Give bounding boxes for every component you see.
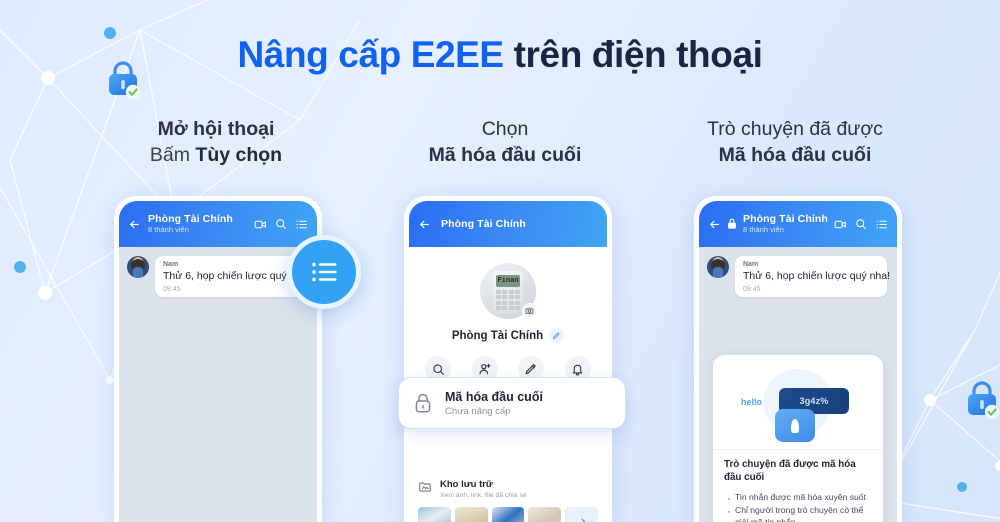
- e2ee-option-subtitle: Chưa nâng cấp: [445, 406, 543, 417]
- phone-3-message-row: Nam Thử 6, họp chiến lược quý nha! 09:45: [699, 247, 897, 297]
- storage-header: Kho lưu trữ Xem ảnh, link, file đã chia …: [418, 479, 598, 499]
- list-item: Chỉ người trong trò chuyện có thể giải m…: [727, 504, 872, 522]
- back-arrow-icon[interactable]: [418, 218, 431, 231]
- back-arrow-icon[interactable]: [128, 218, 141, 231]
- message-sender: Nam: [743, 261, 879, 268]
- list-item: Tin nhắn được mã hóa xuyên suốt: [727, 491, 872, 503]
- illustration-plaintext: hello: [741, 397, 762, 407]
- lock-icon: [726, 217, 738, 231]
- thumbnail[interactable]: [455, 507, 488, 522]
- illustration-ciphertext: 3g4z%: [799, 396, 828, 406]
- message-bubble[interactable]: Nam Thử 6, họp chiến lược quý nha! 09:45: [735, 256, 887, 297]
- step-heading-1: Mở hội thoại Bấm Tùy chọn: [66, 116, 366, 169]
- options-menu-highlight-button[interactable]: [287, 235, 361, 309]
- phone-3-screen: Phòng Tài Chính 8 thành viên Nam Thử 6, …: [699, 201, 897, 522]
- avatar: [707, 256, 729, 278]
- message-text: Thử 6, họp chiến lược quý nha!: [163, 270, 299, 283]
- thumbnail[interactable]: [492, 507, 525, 522]
- search-icon[interactable]: [275, 218, 287, 230]
- camera-icon: [525, 306, 534, 315]
- group-name-row: Phòng Tài Chính: [409, 328, 607, 343]
- phone-1-header-icons: [254, 218, 308, 231]
- step-heading-3: Trò chuyện đã được Mã hóa đầu cuối: [645, 116, 945, 169]
- storage-thumbnails: [418, 507, 598, 522]
- thumbnail[interactable]: [418, 507, 451, 522]
- phone-1-chat-header: Phòng Tài Chính 8 thành viên: [119, 201, 317, 247]
- phone-3-header-text: Phòng Tài Chính 8 thành viên: [743, 213, 829, 235]
- back-arrow-icon[interactable]: [708, 218, 721, 231]
- calculator-image: Finan: [493, 271, 523, 313]
- e2ee-option-text: Mã hóa đầu cuối Chưa nâng cấp: [445, 390, 543, 417]
- phone-3-chat-body: Nam Thử 6, họp chiến lược quý nha! 09:45…: [699, 247, 897, 522]
- group-name: Phòng Tài Chính: [452, 330, 543, 342]
- step-heading-2: Chọn Mã hóa đầu cuối: [355, 116, 655, 169]
- group-avatar-wrap: Finan: [480, 263, 536, 319]
- arrow-right-icon: [575, 516, 588, 522]
- menu-list-icon[interactable]: [875, 218, 888, 231]
- phone-2-chat-title: Phòng Tài Chính: [441, 218, 526, 230]
- edit-name-button[interactable]: [549, 328, 564, 343]
- page-title-highlight: Nâng cấp E2EE: [237, 34, 503, 75]
- e2ee-info-body: Trò chuyện đã được mã hóa đầu cuối Tin n…: [713, 449, 883, 522]
- phone-2-chat-header: Phòng Tài Chính: [409, 201, 607, 247]
- step-1-line-2-normal: Bấm: [150, 144, 196, 166]
- phone-3-chat-title: Phòng Tài Chính: [743, 213, 829, 225]
- phone-mockup-2: Phòng Tài Chính Finan Phòng Tài Chính: [404, 196, 612, 522]
- illustration-lock-icon: [775, 409, 815, 442]
- phone-3-header-icons: [834, 218, 888, 231]
- page-title-rest: trên điện thoại: [504, 34, 763, 75]
- message-time: 09:45: [163, 286, 299, 293]
- page-title: Nâng cấp E2EE trên điện thoại: [0, 34, 1000, 76]
- step-1-line-2-bold: Tùy chọn: [195, 144, 282, 166]
- message-time: 09:45: [743, 286, 879, 293]
- phone-1-screen: Phòng Tài Chính 8 thành viên Nam Thử 6, …: [119, 201, 317, 522]
- storage-subtitle: Xem ảnh, link, file đã chia sẻ: [440, 492, 527, 499]
- padlock-check-right-icon: [963, 378, 1000, 420]
- menu-list-icon: [309, 257, 339, 287]
- message-bubble[interactable]: Nam Thử 6, họp chiến lược quý nha! 09:45: [155, 256, 307, 297]
- phone-2-screen: Phòng Tài Chính Finan Phòng Tài Chính: [409, 201, 607, 522]
- phone-1-chat-title: Phòng Tài Chính: [148, 213, 247, 225]
- e2ee-option-card-highlight[interactable]: Mã hóa đầu cuối Chưa nâng cấp: [398, 377, 626, 429]
- message-text: Thử 6, họp chiến lược quý nha!: [743, 270, 879, 283]
- e2ee-info-card: hello 3g4z% Trò chuyện đã được mã hóa đầ…: [713, 355, 883, 522]
- step-2-line-1: Chọn: [355, 116, 655, 142]
- pencil-icon: [552, 331, 561, 340]
- e2ee-info-title: Trò chuyện đã được mã hóa đầu cuối: [724, 459, 872, 484]
- avatar: [127, 256, 149, 278]
- step-3-line-2: Mã hóa đầu cuối: [645, 142, 945, 168]
- camera-badge[interactable]: [522, 303, 537, 318]
- calculator-keys: [496, 290, 520, 310]
- view-all-storage-button[interactable]: [565, 507, 598, 522]
- phone-mockup-3: Phòng Tài Chính 8 thành viên Nam Thử 6, …: [694, 196, 902, 522]
- message-sender: Nam: [163, 261, 299, 268]
- search-icon[interactable]: [855, 218, 867, 230]
- step-3-line-1: Trò chuyện đã được: [645, 116, 945, 142]
- calculator-screen-text: Finan: [496, 275, 520, 287]
- photo-folder-icon: [418, 480, 432, 494]
- e2ee-illustration: hello 3g4z%: [713, 355, 883, 449]
- keyhole-shape: [791, 419, 799, 433]
- step-2-line-2: Mã hóa đầu cuối: [355, 142, 655, 168]
- video-call-icon[interactable]: [834, 218, 847, 231]
- phone-2-storage-section: Kho lưu trữ Xem ảnh, link, file đã chia …: [409, 469, 607, 522]
- video-call-icon[interactable]: [254, 218, 267, 231]
- storage-text: Kho lưu trữ Xem ảnh, link, file đã chia …: [440, 479, 527, 499]
- thumbnail[interactable]: [528, 507, 561, 522]
- menu-list-icon[interactable]: [295, 218, 308, 231]
- storage-title: Kho lưu trữ: [440, 479, 527, 490]
- e2ee-option-title: Mã hóa đầu cuối: [445, 390, 543, 404]
- phone-mockup-1: Phòng Tài Chính 8 thành viên Nam Thử 6, …: [114, 196, 322, 522]
- step-headings: Mở hội thoại Bấm Tùy chọn Chọn Mã hóa đầ…: [0, 110, 1000, 180]
- lock-icon: [413, 392, 433, 415]
- e2ee-info-bullets: Tin nhắn được mã hóa xuyên suốt Chỉ ngườ…: [727, 491, 872, 522]
- phone-3-chat-header: Phòng Tài Chính 8 thành viên: [699, 201, 897, 247]
- phone-1-header-text: Phòng Tài Chính 8 thành viên: [148, 213, 247, 235]
- phone-1-member-count: 8 thành viên: [148, 226, 247, 235]
- phone-2-group-profile: Finan Phòng Tài Chính: [409, 247, 607, 343]
- step-1-line-1: Mở hội thoại: [66, 116, 366, 142]
- phone-3-member-count: 8 thành viên: [743, 226, 829, 235]
- phone-1-chat-body: Nam Thử 6, họp chiến lược quý nha! 09:45: [119, 247, 317, 522]
